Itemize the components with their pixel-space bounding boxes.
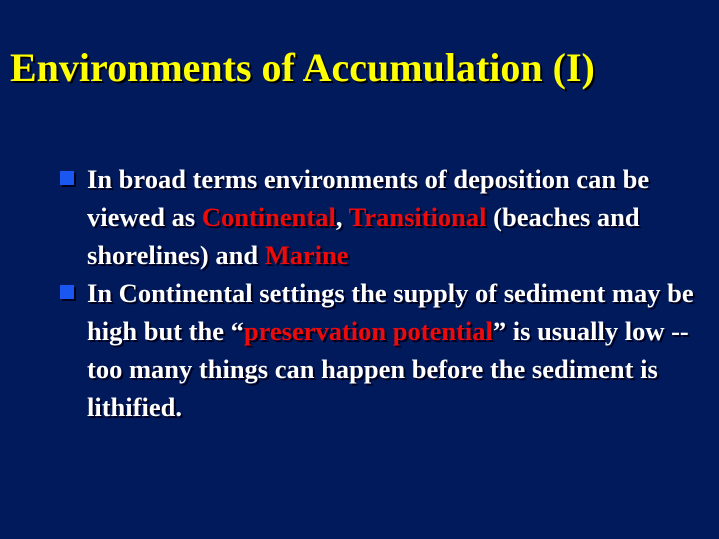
slide-body-content: In broad terms environments of depositio… — [56, 160, 704, 426]
bullet-1-segment-6: Marine — [265, 240, 349, 270]
blue-square-bullet-icon — [60, 285, 74, 299]
slide-title: Environments of Accumulation (I) — [10, 45, 710, 91]
bullet-1-segment-2: Continental — [202, 202, 336, 232]
bullet-item-1: In broad terms environments of depositio… — [56, 160, 704, 274]
blue-square-bullet-icon — [60, 171, 74, 185]
bullet-text-1: In broad terms environments of depositio… — [87, 164, 649, 270]
bullet-text-2: In Continental settings the supply of se… — [87, 278, 694, 422]
bullet-2-segment-2: preservation potential — [244, 316, 493, 346]
bullet-1-segment-4: Transitional — [349, 202, 487, 232]
bullet-item-2: In Continental settings the supply of se… — [56, 274, 704, 426]
presentation-slide: Environments of Accumulation (I) In broa… — [0, 0, 719, 539]
bullet-1-segment-3: , — [336, 202, 349, 232]
